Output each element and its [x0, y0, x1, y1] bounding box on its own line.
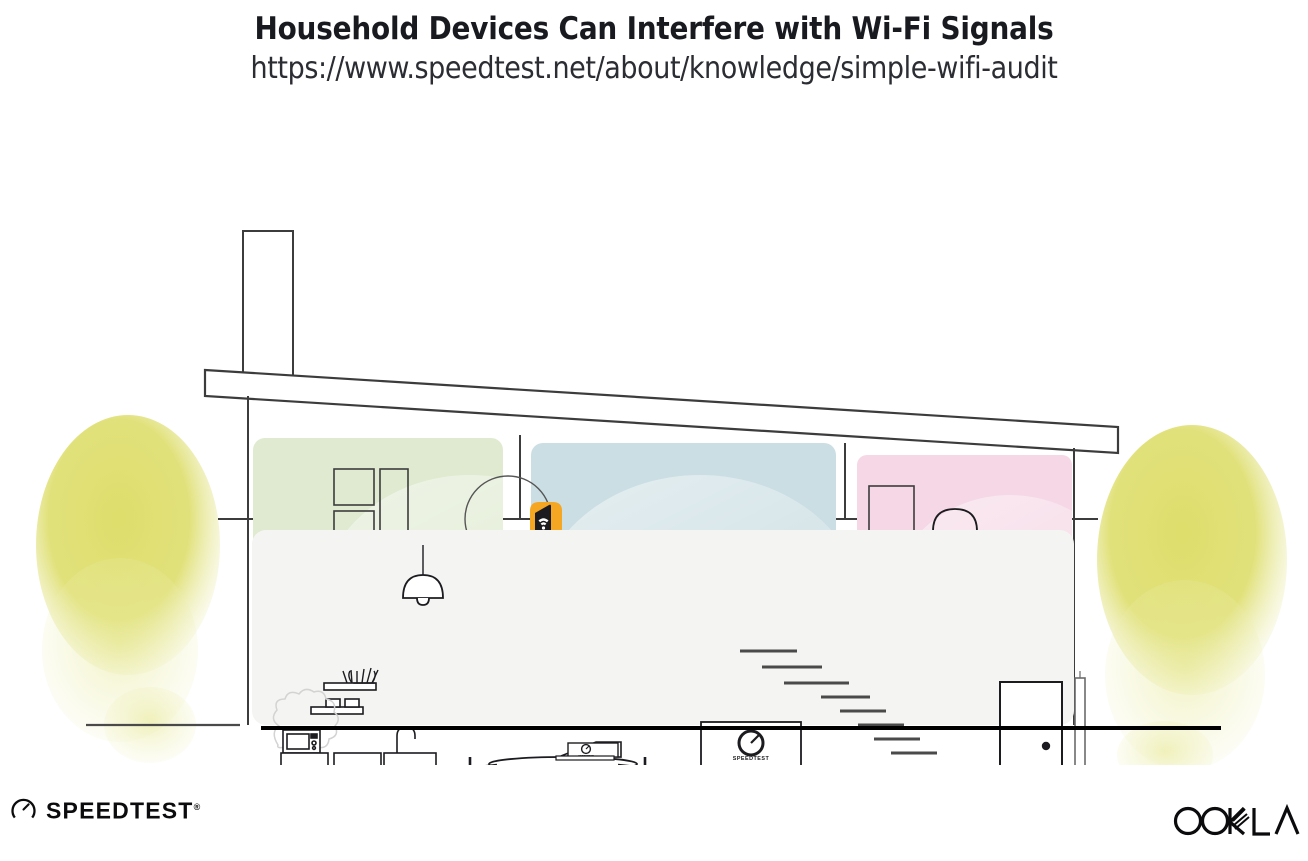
- tv-screen-label: SPEEDTEST: [733, 756, 770, 762]
- laptop[interactable]: SPEEDTEST: [556, 742, 621, 760]
- door-knob-icon: [1042, 742, 1050, 750]
- ookla-wordmark: [1166, 796, 1308, 842]
- side-window: [1075, 671, 1085, 765]
- microwave: [283, 730, 320, 753]
- page-title: Household Devices Can Interfere with Wi-…: [0, 10, 1308, 48]
- speedtest-logo[interactable]: SPEEDTEST®: [10, 796, 200, 823]
- kitchen-counter: [281, 753, 436, 765]
- infographic-canvas: Household Devices Can Interfere with Wi-…: [0, 0, 1308, 861]
- speedtest-wordmark: SPEEDTEST®: [46, 796, 200, 823]
- foliage-left: [36, 415, 220, 763]
- foliage-right: [1097, 425, 1287, 765]
- front-door[interactable]: [1000, 682, 1062, 765]
- kitchen-sink-faucet: [397, 727, 415, 753]
- footer: SPEEDTEST®: [0, 780, 1308, 861]
- ookla-logo[interactable]: [1166, 796, 1308, 842]
- chimney: [243, 231, 293, 381]
- header: Household Devices Can Interfere with Wi-…: [0, 0, 1308, 87]
- source-url[interactable]: https://www.speedtest.net/about/knowledg…: [0, 51, 1308, 87]
- speedometer-icon: [10, 796, 37, 823]
- speedtest-trademark: ®: [194, 802, 201, 812]
- house-illustration: SPEEDTEST: [0, 105, 1308, 765]
